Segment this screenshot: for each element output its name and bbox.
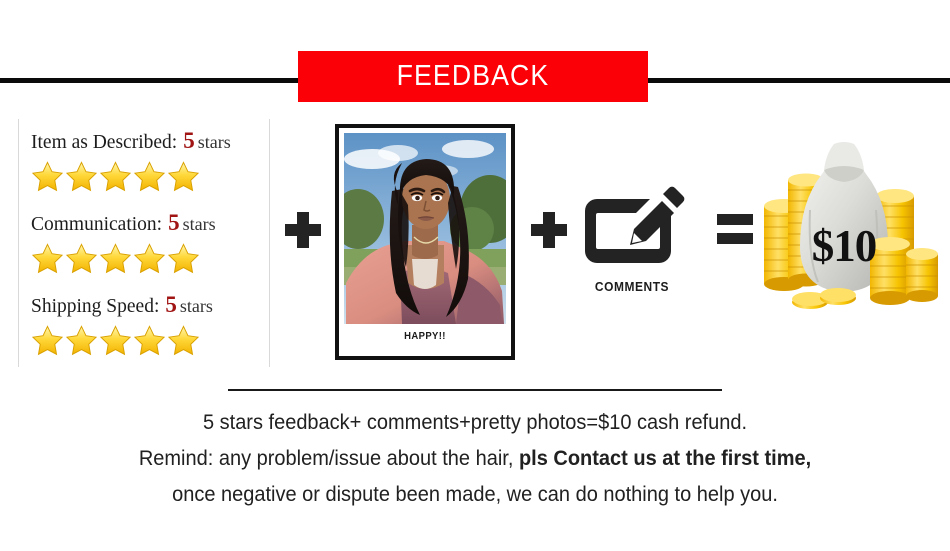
star-icon xyxy=(133,160,166,192)
star-icon xyxy=(65,160,98,192)
footer-text-block: 5 stars feedback+ comments+pretty photos… xyxy=(0,404,950,512)
star-icon xyxy=(65,324,98,356)
star-icon xyxy=(167,324,200,356)
feedback-banner-label: FEEDBACK xyxy=(397,60,550,93)
comments-block: COMMENTS xyxy=(578,185,686,300)
rating-score-item-as-described: 5 xyxy=(183,128,195,153)
star-rating-shipping-speed xyxy=(31,324,269,356)
star-rating-communication xyxy=(31,242,269,274)
footer-line-1: 5 stars feedback+ comments+pretty photos… xyxy=(33,404,917,440)
footer-divider-line xyxy=(228,389,722,391)
feedback-banner: FEEDBACK xyxy=(298,51,648,102)
star-icon xyxy=(99,242,132,274)
customer-photo-frame: HAPPY!! xyxy=(335,124,515,360)
star-icon xyxy=(31,324,64,356)
rating-score-shipping-speed: 5 xyxy=(165,292,177,317)
rating-label-item-as-described: Item as Described: xyxy=(31,132,177,153)
customer-photo xyxy=(344,133,506,324)
comments-pencil-icon xyxy=(578,185,686,273)
rating-label-line: Communication:5stars xyxy=(31,201,269,235)
rating-row-communication: Communication:5stars xyxy=(31,201,269,283)
star-icon xyxy=(99,324,132,356)
star-icon xyxy=(133,242,166,274)
rating-unit-communication: stars xyxy=(183,214,216,234)
star-icon xyxy=(31,242,64,274)
star-icon xyxy=(31,160,64,192)
rating-label-line: Item as Described:5stars xyxy=(31,119,269,153)
footer-line-2: Remind: any problem/issue about the hair… xyxy=(33,440,917,476)
ratings-panel: Item as Described:5stars Communication:5… xyxy=(18,119,270,367)
feedback-promo-page: FEEDBACK Item as Described:5stars Commun… xyxy=(0,0,950,551)
rating-unit-shipping-speed: stars xyxy=(180,296,213,316)
rating-label-line: Shipping Speed:5stars xyxy=(31,283,269,317)
star-icon xyxy=(99,160,132,192)
star-icon xyxy=(167,242,200,274)
footer-line-2-bold: pls Contact us at the first time, xyxy=(519,446,811,470)
money-block: $10 xyxy=(748,140,940,315)
footer-line-2-plain: Remind: any problem/issue about the hair… xyxy=(139,446,519,470)
star-rating-item-as-described xyxy=(31,160,269,192)
customer-photo-illustration xyxy=(344,133,506,324)
rating-label-shipping-speed: Shipping Speed: xyxy=(31,296,159,317)
plus-icon xyxy=(531,212,567,248)
footer-line-3: once negative or dispute been made, we c… xyxy=(33,476,917,512)
rating-row-item-as-described: Item as Described:5stars xyxy=(31,119,269,201)
rating-score-communication: 5 xyxy=(168,210,180,235)
rating-unit-item-as-described: stars xyxy=(198,132,231,152)
plus-icon xyxy=(285,212,321,248)
star-icon xyxy=(133,324,166,356)
money-bag-icon xyxy=(748,140,940,315)
rating-row-shipping-speed: Shipping Speed:5stars xyxy=(31,283,269,365)
star-icon xyxy=(65,242,98,274)
comments-caption: COMMENTS xyxy=(582,279,681,294)
rating-label-communication: Communication: xyxy=(31,214,162,235)
star-icon xyxy=(167,160,200,192)
photo-caption: HAPPY!! xyxy=(348,324,502,350)
